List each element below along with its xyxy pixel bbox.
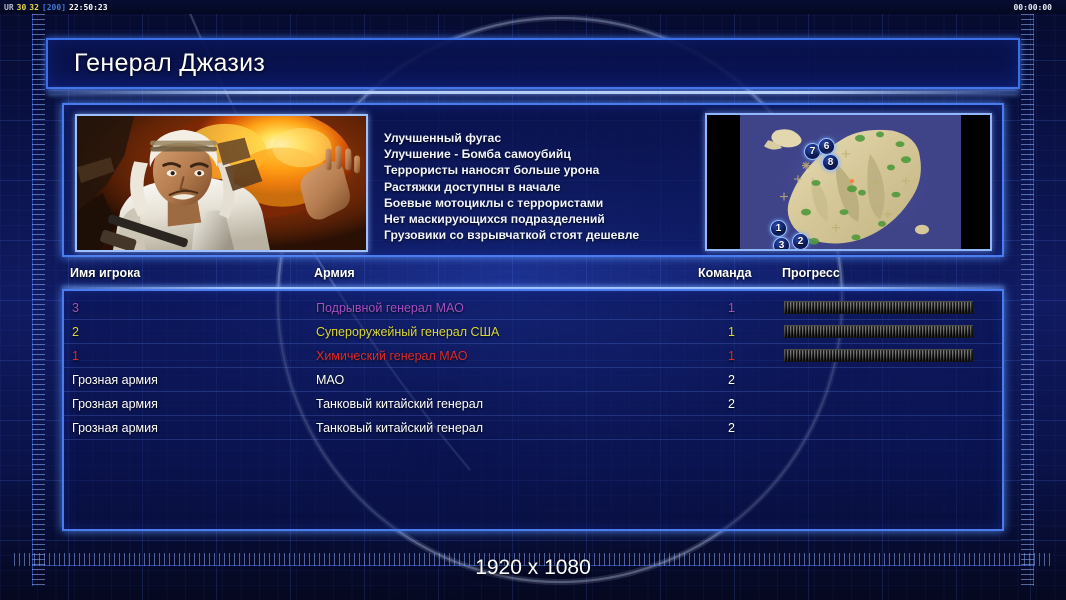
- minimap-frame[interactable]: 768132: [705, 113, 992, 251]
- progress-bar: [784, 325, 973, 338]
- general-portrait-image: [77, 116, 366, 252]
- cell-player-name: Грозная армия: [72, 421, 158, 435]
- ability-line: Растяжки доступны в начале: [384, 179, 744, 195]
- general-info-window: Генерал Джазиз: [46, 38, 1020, 548]
- ruler-right: [1021, 14, 1034, 586]
- cell-team: 2: [728, 397, 735, 411]
- cell-player-name: Грозная армия: [72, 373, 158, 387]
- title-panel: Генерал Джазиз: [46, 38, 1020, 89]
- top-status-left: UR 30 32 [200] 22:50:23: [4, 3, 108, 12]
- general-portrait-frame: [75, 114, 368, 252]
- status-clock: 22:50:23: [69, 3, 108, 12]
- status-bracket: [200]: [42, 3, 66, 12]
- ability-line: Боевые мотоциклы с террористами: [384, 195, 744, 211]
- minimap-image[interactable]: 768132: [740, 115, 961, 249]
- ability-line: Улучшенный фугас: [384, 130, 744, 146]
- general-info-panel: Улучшенный фугас Улучшение - Бомба самоу…: [62, 103, 1004, 257]
- header-team: Команда: [698, 266, 752, 280]
- cell-player-name: 3: [72, 301, 79, 315]
- status-ur-label: UR: [4, 3, 14, 12]
- table-row[interactable]: Грозная армияТанковый китайский генерал2: [64, 416, 1002, 440]
- minimap-marker-3[interactable]: 3: [773, 237, 790, 249]
- player-list-panel: 3Подрывной генерал МАО12Супероружейный г…: [62, 289, 1004, 531]
- cell-player-name: 1: [72, 349, 79, 363]
- cell-team: 2: [728, 373, 735, 387]
- player-table-header: Имя игрока Армия Команда Прогресс: [62, 266, 1004, 288]
- ability-line: Улучшение - Бомба самоубийц: [384, 146, 744, 162]
- minimap-marker-1[interactable]: 1: [770, 220, 787, 237]
- minimap-marker-6[interactable]: 6: [818, 138, 835, 155]
- cell-army: Подрывной генерал МАО: [316, 301, 464, 315]
- status-number-two: 32: [29, 3, 39, 12]
- top-status-timer: 00:00:00: [1013, 3, 1062, 12]
- cell-player-name: Грозная армия: [72, 397, 158, 411]
- cell-team: 1: [728, 325, 735, 339]
- minimap-marker-2[interactable]: 2: [792, 233, 809, 249]
- status-number-one: 30: [17, 3, 27, 12]
- cell-team: 1: [728, 301, 735, 315]
- ability-line: Нет маскирующихся подразделений: [384, 211, 744, 227]
- cell-player-name: 2: [72, 325, 79, 339]
- table-row[interactable]: 1Химический генерал МАО1: [64, 344, 1002, 368]
- header-progress: Прогресс: [782, 266, 840, 280]
- title-underline: [48, 91, 1018, 94]
- cell-army: МАО: [316, 373, 344, 387]
- table-row[interactable]: 3Подрывной генерал МАО1: [64, 296, 1002, 320]
- top-status-bar: UR 30 32 [200] 22:50:23 00:00:00: [0, 0, 1066, 14]
- ability-line: Грузовики со взрывчаткой стоят дешевле: [384, 227, 744, 243]
- header-army: Армия: [314, 266, 355, 280]
- ability-line: Террористы наносят больше урона: [384, 162, 744, 178]
- cell-army: Супероружейный генерал США: [316, 325, 499, 339]
- page-title: Генерал Джазиз: [48, 49, 265, 78]
- row-divider: [64, 439, 1002, 440]
- cell-army: Танковый китайский генерал: [316, 421, 483, 435]
- table-row[interactable]: 2Супероружейный генерал США1: [64, 320, 1002, 344]
- resolution-label: 1920 x 1080: [0, 556, 1066, 580]
- cell-team: 1: [728, 349, 735, 363]
- cell-army: Химический генерал МАО: [316, 349, 467, 363]
- header-player-name: Имя игрока: [70, 266, 140, 280]
- cell-army: Танковый китайский генерал: [316, 397, 483, 411]
- ruler-left: [32, 14, 45, 586]
- progress-bar: [784, 301, 973, 314]
- table-row[interactable]: Грозная армияМАО2: [64, 368, 1002, 392]
- cell-team: 2: [728, 421, 735, 435]
- minimap-marker-8[interactable]: 8: [822, 154, 839, 171]
- general-ability-list: Улучшенный фугас Улучшение - Бомба самоу…: [384, 130, 744, 243]
- progress-bar: [784, 349, 973, 362]
- table-row[interactable]: Грозная армияТанковый китайский генерал2: [64, 392, 1002, 416]
